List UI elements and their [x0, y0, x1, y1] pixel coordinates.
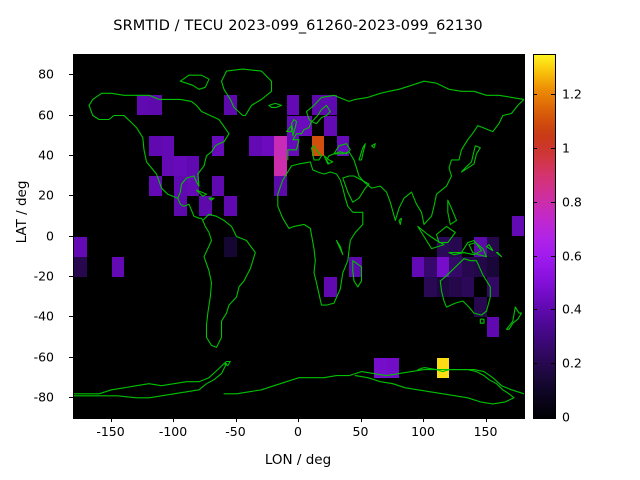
- coastline-path: [222, 69, 272, 115]
- coastline-path: [74, 364, 227, 398]
- x-tick-label: 50: [331, 424, 391, 439]
- coastline-path: [269, 103, 282, 107]
- coastline-path: [462, 146, 481, 172]
- colorbar-tick-mark: [533, 202, 537, 203]
- colorbar-tick-mark: [551, 309, 555, 310]
- colorbar-tick-label: 0: [562, 410, 570, 425]
- y-tick-mark: [69, 357, 73, 358]
- coastline-path: [209, 198, 214, 200]
- coastline-path: [224, 362, 230, 366]
- coastline-path: [180, 75, 209, 89]
- colorbar-tick-mark: [551, 256, 555, 257]
- coastline-path: [480, 319, 484, 323]
- coastline-path: [89, 105, 203, 220]
- colorbar-tick-mark: [533, 309, 537, 310]
- y-tick-mark: [69, 316, 73, 317]
- x-tick-mark: [423, 418, 424, 422]
- coastline-path: [448, 200, 457, 224]
- y-tick-label: 80: [10, 67, 54, 82]
- coastline-path: [327, 99, 525, 224]
- chart-title: SRMTID / TECU 2023-099_61260-2023-099_62…: [0, 18, 596, 34]
- y-tick-label: -60: [10, 349, 54, 364]
- coastline-path: [334, 144, 350, 154]
- x-tick-mark: [111, 418, 112, 422]
- colorbar-tick-label: 0.6: [562, 248, 582, 263]
- x-tick-mark: [173, 418, 174, 422]
- coastline-path: [353, 261, 362, 287]
- colorbar-tick-mark: [533, 417, 537, 418]
- coastline-path: [203, 214, 256, 347]
- coastline-path: [372, 144, 376, 148]
- y-tick-label: -80: [10, 389, 54, 404]
- colorbar-tick-mark: [533, 256, 537, 257]
- figure-canvas: SRMTID / TECU 2023-099_61260-2023-099_62…: [0, 0, 640, 480]
- x-tick-mark: [236, 418, 237, 422]
- coastline-path: [337, 241, 343, 255]
- coastline-path: [312, 105, 331, 123]
- colorbar-tick-mark: [551, 417, 555, 418]
- x-tick-mark: [361, 418, 362, 422]
- colorbar-tick-label: 1: [562, 141, 570, 156]
- coastline-path: [440, 259, 490, 315]
- y-tick-label: -40: [10, 309, 54, 324]
- coastline-path: [312, 146, 322, 160]
- coastline-path: [359, 144, 365, 160]
- coastline-path: [288, 81, 524, 160]
- colorbar-tick-label: 0.4: [562, 302, 582, 317]
- colorbar-tick-mark: [533, 94, 537, 95]
- x-axis-label: LON / deg: [73, 452, 523, 468]
- y-tick-mark: [69, 195, 73, 196]
- coastline-path: [287, 126, 292, 132]
- colorbar-tick-mark: [551, 94, 555, 95]
- y-tick-mark: [69, 236, 73, 237]
- x-tick-mark: [298, 418, 299, 422]
- x-tick-label: -100: [143, 424, 203, 439]
- y-tick-mark: [69, 155, 73, 156]
- colorbar-tick-mark: [551, 148, 555, 149]
- y-tick-mark: [69, 276, 73, 277]
- colorbar-tick-mark: [533, 363, 537, 364]
- x-tick-label: 150: [456, 424, 516, 439]
- colorbar-tick-mark: [551, 202, 555, 203]
- y-axis-label: LAT / deg: [14, 152, 30, 272]
- coastline-path: [507, 307, 522, 329]
- colorbar-tick-mark: [533, 148, 537, 149]
- colorbar-tick-label: 0.8: [562, 194, 582, 209]
- y-tick-mark: [69, 74, 73, 75]
- colorbar[interactable]: [533, 54, 556, 419]
- colorbar-tick-label: 1.2: [562, 87, 582, 102]
- y-tick-mark: [69, 115, 73, 116]
- coastline-layer: [74, 55, 524, 418]
- map-plot-area[interactable]: [73, 54, 525, 419]
- coastline-path: [437, 226, 456, 242]
- y-tick-label: 60: [10, 107, 54, 122]
- x-tick-label: 0: [268, 424, 328, 439]
- coastline-path: [278, 162, 363, 305]
- x-tick-label: -150: [81, 424, 141, 439]
- coastline-path: [418, 226, 444, 248]
- coastline-path: [399, 218, 402, 224]
- coastline-path: [197, 190, 207, 196]
- x-tick-mark: [486, 418, 487, 422]
- coastline-path: [449, 241, 482, 255]
- x-tick-label: 100: [393, 424, 453, 439]
- coastline-path: [355, 368, 514, 404]
- coastline-path: [343, 176, 369, 202]
- x-tick-label: -50: [206, 424, 266, 439]
- colorbar-tick-mark: [551, 363, 555, 364]
- y-tick-mark: [69, 397, 73, 398]
- colorbar-tick-label: 0.2: [562, 356, 582, 371]
- coastline-path: [292, 120, 297, 136]
- coastline-path: [497, 253, 502, 257]
- coastline-path: [487, 245, 493, 251]
